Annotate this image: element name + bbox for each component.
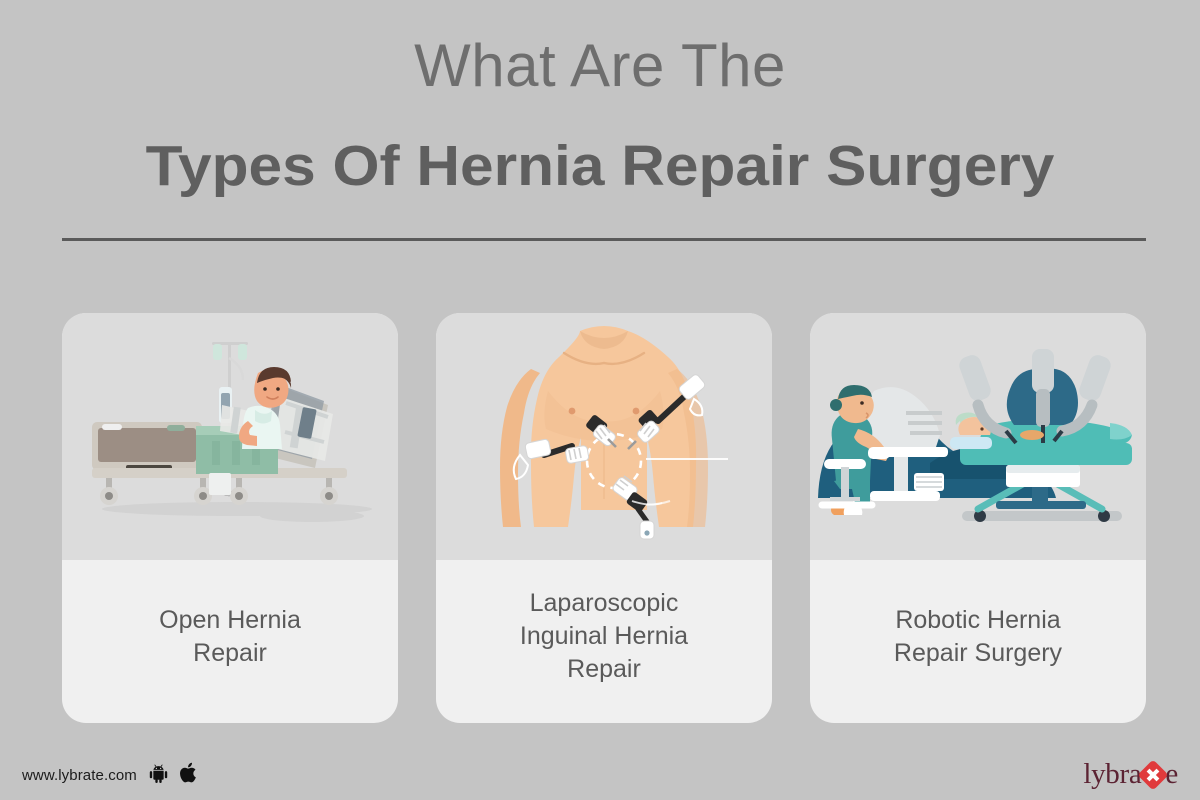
surgery-type-card-robotic-hernia-repair-surgery[interactable]: Robotic Hernia Repair Surgery — [810, 313, 1146, 723]
website-url[interactable]: www.lybrate.com — [22, 767, 137, 784]
apple-logo-icon[interactable] — [180, 762, 199, 789]
surgery-type-card-open-hernia-repair[interactable]: Open Hernia Repair — [62, 313, 398, 723]
title-divider — [62, 238, 1146, 241]
surgery-type-card-list: Open Hernia Repair — [62, 313, 1146, 723]
lybrate-diamond-plus-icon — [1138, 759, 1169, 790]
header: What Are The Types Of Hernia Repair Surg… — [0, 0, 1200, 252]
page-title-line-2: Types Of Hernia Repair Surgery — [0, 138, 1200, 195]
card-label: Laparoscopic Inguinal Hernia Repair — [436, 560, 772, 723]
laparoscopic-hernia-repair-illustration — [436, 313, 772, 560]
card-label: Open Hernia Repair — [62, 560, 398, 723]
footer: www.lybrate.com — [0, 752, 1200, 800]
footer-left-group: www.lybrate.com — [22, 762, 199, 789]
robotic-hernia-repair-illustration — [810, 313, 1146, 560]
surgery-type-card-laparoscopic-inguinal-hernia-repair[interactable]: Laparoscopic Inguinal Hernia Repair — [436, 313, 772, 723]
card-label: Robotic Hernia Repair Surgery — [810, 560, 1146, 723]
open-hernia-repair-illustration — [62, 313, 398, 560]
page-title-line-1: What Are The — [0, 36, 1200, 96]
lybrate-logo[interactable]: lybra e — [1083, 760, 1178, 789]
logo-text-before: lybra — [1083, 760, 1141, 789]
android-robot-icon[interactable] — [149, 764, 168, 788]
